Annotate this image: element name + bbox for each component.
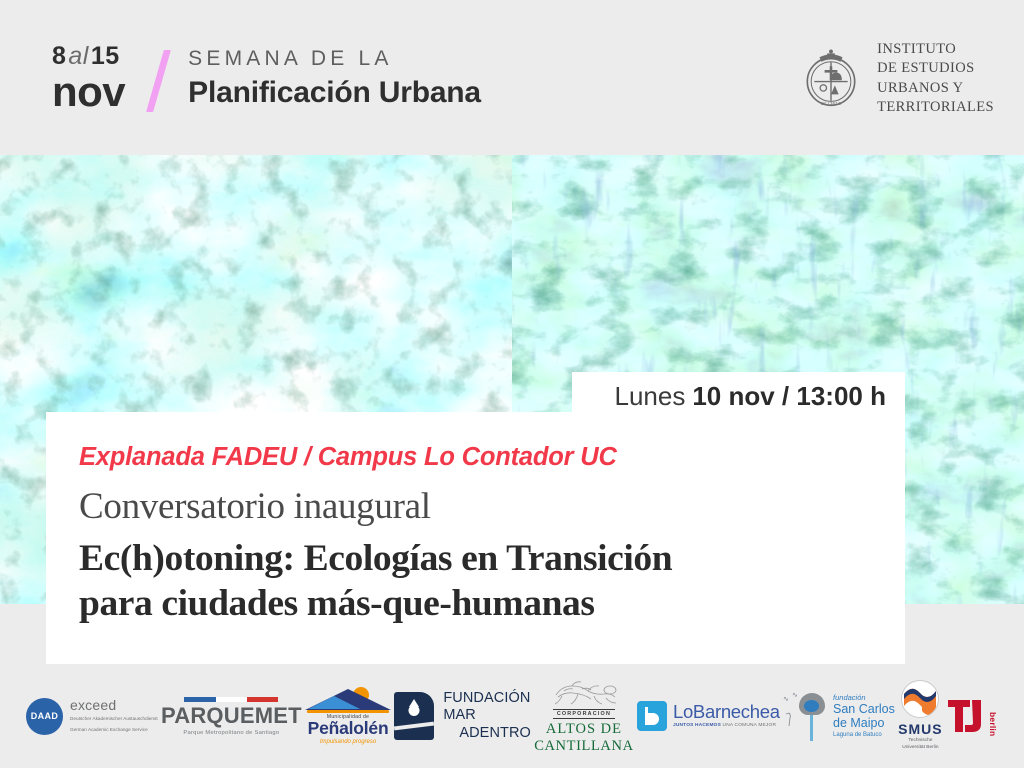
institute-line-2: DE ESTUDIOS <box>877 59 994 78</box>
header-bar: 8al15 nov SEMANA DE LA Planificación Urb… <box>0 0 1024 155</box>
date-banner-datetime: 10 nov / 13:00 h <box>692 381 886 412</box>
sponsor-logo-penalolen: Municipalidad de Peñalolén Impulsando pr… <box>305 687 391 745</box>
uc-crest-icon: DE CHILE <box>799 47 863 111</box>
penalolen-hill-icon <box>305 687 391 713</box>
svg-text:DE CHILE: DE CHILE <box>821 101 841 106</box>
sponsor-logo-smus: SMUS Technische Universität Berlin <box>898 680 942 752</box>
date-banner-day: Lunes <box>615 381 686 412</box>
institute-name: INSTITUTO DE ESTUDIOS URBANOS Y TERRITOR… <box>877 40 994 117</box>
daad-badge: DAAD <box>26 698 63 735</box>
event-title: Planificación Urbana <box>188 78 481 108</box>
sponsor-logo-lo-barnechea: LoBarnechea JUNTOS HACEMOS UNA COMUNA ME… <box>637 701 780 731</box>
daad-sub-2: German Academic Exchange Service <box>70 727 158 734</box>
event-kicker: Conversatorio inaugural <box>79 488 905 525</box>
san-carlos-text: fundación San Carlos de Maipo Laguna de … <box>833 694 895 738</box>
pink-slash-divider-icon <box>146 50 171 112</box>
institute-lockup: DE CHILE INSTITUTO DE ESTUDIOS URBANOS Y… <box>799 40 994 117</box>
sponsor-logo-parquemet: PARQUEMET Parque Metropolitano de Santia… <box>161 697 302 736</box>
sponsor-footer: DAAD exceed Deutscher Akademischer Austa… <box>0 664 1024 768</box>
daad-sub-1: Deutscher Akademischer Austauschdienst <box>70 716 158 723</box>
penalolen-name: Peñalolén <box>308 720 389 738</box>
mar-adentro-line-3: ADENTRO <box>443 725 531 742</box>
institute-line-4: TERRITORIALES <box>877 98 994 117</box>
san-carlos-sub: Laguna de Batuco <box>833 732 895 738</box>
sponsor-logo-mar-adentro: FUNDACIÓN MAR ADENTRO <box>394 690 531 741</box>
event-date-month: nov <box>52 71 125 113</box>
event-date-days: 8al15 <box>52 44 125 69</box>
lo-barnechea-name: LoBarnechea <box>673 703 780 722</box>
smus-name: SMUS <box>898 722 942 736</box>
institute-line-1: INSTITUTO <box>877 40 994 59</box>
cantillana-line-1: ALTOS DE <box>546 721 622 738</box>
parquemet-sub: Parque Metropolitano de Santiago <box>183 730 279 736</box>
lo-barnechea-text: LoBarnechea JUNTOS HACEMOS UNA COMUNA ME… <box>673 703 780 729</box>
smus-sub: Technische Universität Berlin <box>902 738 938 752</box>
sponsor-logo-tu-berlin: berlin <box>946 696 998 736</box>
event-title-lockup: SEMANA DE LA Planificación Urbana <box>188 44 481 108</box>
mar-adentro-line-2: MAR <box>443 707 531 724</box>
event-brand-lockup: 8al15 nov SEMANA DE LA Planificación Urb… <box>52 44 481 113</box>
daad-text: exceed Deutscher Akademischer Austauschd… <box>70 698 158 734</box>
sponsor-logo-altos-de-cantillana: CORPORACION ALTOS DE CANTILLANA <box>534 677 633 754</box>
tu-berlin-mark-icon <box>946 696 986 736</box>
institute-line-3: URBANOS Y <box>877 79 994 98</box>
lizard-icon <box>548 677 620 707</box>
event-location: Explanada FADEU / Campus Lo Contador UC <box>79 445 905 471</box>
san-carlos-birds-icon: ∿ ∿ <box>783 691 829 741</box>
event-main-title: Ec(h)otoning: Ecologías en Transición pa… <box>79 536 905 626</box>
san-carlos-pre: fundación <box>833 694 895 702</box>
lo-barnechea-sub: JUNTOS HACEMOS UNA COMUNA MEJOR <box>673 724 780 729</box>
lo-barnechea-mark-icon <box>637 701 667 731</box>
penalolen-sub: Impulsando progreso <box>320 739 376 745</box>
san-carlos-line-2: de Maipo <box>833 716 895 730</box>
mar-adentro-line-1: FUNDACIÓN <box>443 690 531 707</box>
date-connector: al <box>66 42 90 70</box>
smus-sub-1: Technische <box>902 738 938 745</box>
cantillana-line-2: CANTILLANA <box>534 738 633 755</box>
sponsor-logo-row: DAAD exceed Deutscher Akademischer Austa… <box>0 664 1024 768</box>
lo-barnechea-sub-2: UNA COMUNA MEJOR <box>723 723 777 728</box>
date-end: 15 <box>91 42 120 70</box>
sponsor-logo-daad-exceed: DAAD exceed Deutscher Akademischer Austa… <box>26 698 158 735</box>
date-start: 8 <box>52 42 66 70</box>
smus-sub-2: Universität Berlin <box>902 745 938 752</box>
chile-flag-icon <box>184 697 278 702</box>
event-info-card: Explanada FADEU / Campus Lo Contador UC … <box>46 412 905 664</box>
event-date-range: 8al15 nov <box>52 44 125 113</box>
heron-icon <box>785 711 793 727</box>
event-main-title-line-2: para ciudades más-que-humanas <box>79 581 905 626</box>
event-main-title-line-1: Ec(h)otoning: Ecologías en Transición <box>79 536 905 581</box>
sponsor-logo-san-carlos-de-maipo: ∿ ∿ fundación San Carlos de Maipo Laguna… <box>783 691 895 741</box>
mar-adentro-mark-icon <box>394 692 434 740</box>
parquemet-name: PARQUEMET <box>161 705 302 727</box>
mar-adentro-text: FUNDACIÓN MAR ADENTRO <box>443 690 531 741</box>
event-eyebrow: SEMANA DE LA <box>188 48 481 69</box>
poster-root: 8al15 nov SEMANA DE LA Planificación Urb… <box>0 0 1024 768</box>
lo-barnechea-sub-1: JUNTOS HACEMOS <box>673 723 721 728</box>
daad-name: exceed <box>70 698 158 712</box>
tu-berlin-sub: berlin <box>988 712 998 736</box>
smus-mark-icon <box>901 680 939 718</box>
san-carlos-line-1: San Carlos <box>833 702 895 716</box>
cantillana-pre: CORPORACION <box>553 709 615 719</box>
